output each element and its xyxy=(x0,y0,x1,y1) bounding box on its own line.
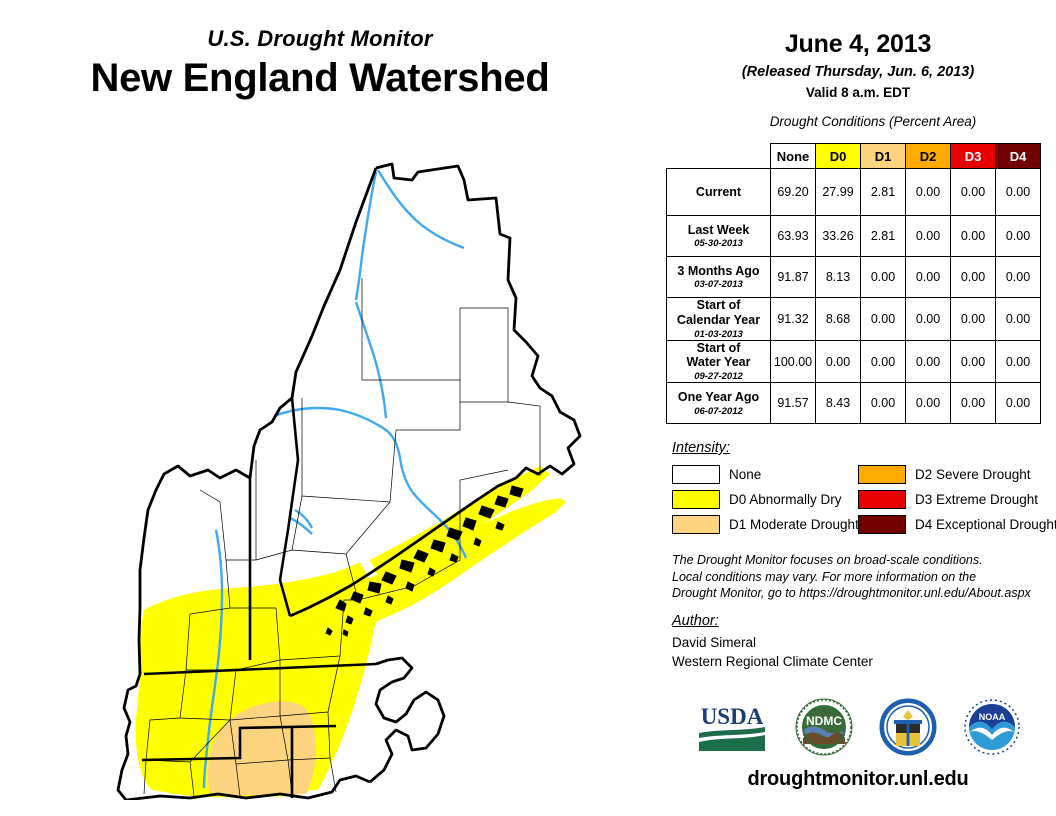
cell-d2: 0.00 xyxy=(906,216,951,257)
usda-logo-text: USDA xyxy=(701,704,764,729)
row-date: 01-03-2013 xyxy=(667,329,770,340)
legend-swatch-d1 xyxy=(672,515,720,534)
cell-d1: 0.00 xyxy=(861,340,906,383)
legend-item-d3: D3 Extreme Drought xyxy=(858,490,1056,509)
cell-d2: 0.00 xyxy=(906,169,951,216)
cell-d3: 0.00 xyxy=(951,340,996,383)
column-header-d1: D1 xyxy=(861,144,906,169)
info-panel: June 4, 2013 (Released Thursday, Jun. 6,… xyxy=(660,0,1056,816)
drought-conditions-table: None D0 D1 D2 D3 D4 Current69.2027.992.8… xyxy=(666,143,1046,424)
table-corner-cell xyxy=(667,144,771,169)
cell-none: 63.93 xyxy=(771,216,816,257)
row-label: Start ofWater Year09-27-2012 xyxy=(667,340,771,383)
legend-label-none: None xyxy=(729,467,761,482)
cell-d1: 2.81 xyxy=(861,169,906,216)
disclaimer-text: The Drought Monitor focuses on broad-sca… xyxy=(672,552,1052,602)
legend-item-d2: D2 Severe Drought xyxy=(858,465,1056,484)
author-block: Author: David Simeral Western Regional C… xyxy=(672,613,1052,671)
legend-item-d1: D1 Moderate Drought xyxy=(672,515,858,534)
cell-d2: 0.00 xyxy=(906,257,951,298)
ndmc-logo: NDMC xyxy=(795,698,853,756)
cell-d4: 0.00 xyxy=(996,169,1041,216)
cell-d1: 0.00 xyxy=(861,257,906,298)
row-label: Last Week05-30-2013 xyxy=(667,216,771,257)
legend-label-d4: D4 Exceptional Drought xyxy=(915,517,1056,532)
row-label: Start ofCalendar Year01-03-2013 xyxy=(667,298,771,341)
cell-d2: 0.00 xyxy=(906,383,951,424)
table-row: Last Week05-30-201363.9333.262.810.000.0… xyxy=(667,216,1041,257)
cell-d0: 8.13 xyxy=(816,257,861,298)
cell-d4: 0.00 xyxy=(996,298,1041,341)
page-title: New England Watershed xyxy=(0,56,640,101)
column-header-none: None xyxy=(771,144,816,169)
program-title: U.S. Drought Monitor xyxy=(0,26,640,52)
intensity-legend: Intensity: NoneD2 Severe DroughtD0 Abnor… xyxy=(672,440,1056,537)
title-block: U.S. Drought Monitor New England Watersh… xyxy=(0,26,640,101)
cell-d0: 8.43 xyxy=(816,383,861,424)
legend-swatch-d0 xyxy=(672,490,720,509)
author-affiliation: Western Regional Climate Center xyxy=(672,652,1052,671)
disclaimer-line-1: The Drought Monitor focuses on broad-sca… xyxy=(672,552,1052,569)
usda-logo: USDA xyxy=(695,699,769,755)
cell-d0: 8.68 xyxy=(816,298,861,341)
table-row: 3 Months Ago03-07-201391.878.130.000.000… xyxy=(667,257,1041,298)
cell-d4: 0.00 xyxy=(996,383,1041,424)
column-header-d3: D3 xyxy=(951,144,996,169)
legend-item-d0: D0 Abnormally Dry xyxy=(672,490,858,509)
cell-none: 91.32 xyxy=(771,298,816,341)
row-date: 06-07-2012 xyxy=(667,406,770,417)
column-header-d2: D2 xyxy=(906,144,951,169)
legend-swatch-d4 xyxy=(858,515,906,534)
row-date: 05-30-2013 xyxy=(667,238,770,249)
cell-d3: 0.00 xyxy=(951,383,996,424)
cell-d4: 0.00 xyxy=(996,257,1041,298)
cell-none: 91.57 xyxy=(771,383,816,424)
valid-time: Valid 8 a.m. EDT xyxy=(660,85,1056,100)
table-row: Current69.2027.992.810.000.000.00 xyxy=(667,169,1041,216)
cell-d4: 0.00 xyxy=(996,216,1041,257)
map-svg xyxy=(40,130,640,800)
table-header-row: None D0 D1 D2 D3 D4 xyxy=(667,144,1041,169)
cell-d2: 0.00 xyxy=(906,298,951,341)
author-name: David Simeral xyxy=(672,633,1052,652)
commerce-logo xyxy=(879,698,937,756)
cell-d0: 33.26 xyxy=(816,216,861,257)
row-date: 09-27-2012 xyxy=(667,371,770,382)
legend-label-d0: D0 Abnormally Dry xyxy=(729,492,842,507)
cell-none: 91.87 xyxy=(771,257,816,298)
cell-none: 69.20 xyxy=(771,169,816,216)
row-date: 03-07-2013 xyxy=(667,279,770,290)
noaa-logo: NOAA xyxy=(963,698,1021,756)
cell-d3: 0.00 xyxy=(951,169,996,216)
table-body: Current69.2027.992.810.000.000.00Last We… xyxy=(667,169,1041,424)
row-label: 3 Months Ago03-07-2013 xyxy=(667,257,771,298)
column-header-d4: D4 xyxy=(996,144,1041,169)
row-label: One Year Ago06-07-2012 xyxy=(667,383,771,424)
table-row: Start ofWater Year09-27-2012100.000.000.… xyxy=(667,340,1041,383)
cell-d4: 0.00 xyxy=(996,340,1041,383)
legend-item-none: None xyxy=(672,465,858,484)
legend-label-d2: D2 Severe Drought xyxy=(915,467,1031,482)
legend-item-d4: D4 Exceptional Drought xyxy=(858,515,1056,534)
ndmc-logo-text: NDMC xyxy=(806,714,842,728)
map-panel: U.S. Drought Monitor New England Watersh… xyxy=(0,0,660,816)
column-header-d0: D0 xyxy=(816,144,861,169)
author-label: Author: xyxy=(672,613,1052,629)
legend-swatch-d3 xyxy=(858,490,906,509)
report-date: June 4, 2013 xyxy=(660,30,1056,59)
cell-d0: 27.99 xyxy=(816,169,861,216)
cell-d1: 0.00 xyxy=(861,298,906,341)
intensity-legend-grid: NoneD2 Severe DroughtD0 Abnormally DryD3… xyxy=(672,462,1056,537)
cell-d3: 0.00 xyxy=(951,298,996,341)
legend-swatch-d2 xyxy=(858,465,906,484)
cell-d2: 0.00 xyxy=(906,340,951,383)
table-row: Start ofCalendar Year01-03-201391.328.68… xyxy=(667,298,1041,341)
legend-swatch-none xyxy=(672,465,720,484)
legend-label-d3: D3 Extreme Drought xyxy=(915,492,1038,507)
table-row: One Year Ago06-07-201291.578.430.000.000… xyxy=(667,383,1041,424)
date-block: June 4, 2013 (Released Thursday, Jun. 6,… xyxy=(660,0,1056,129)
site-url[interactable]: droughtmonitor.unl.edu xyxy=(660,768,1056,791)
cell-d3: 0.00 xyxy=(951,257,996,298)
row-label: Current xyxy=(667,169,771,216)
logo-row: USDA NDMC xyxy=(660,688,1056,766)
legend-label-d1: D1 Moderate Drought xyxy=(729,517,859,532)
cell-d0: 0.00 xyxy=(816,340,861,383)
table-caption: Drought Conditions (Percent Area) xyxy=(690,114,1056,129)
release-date: (Released Thursday, Jun. 6, 2013) xyxy=(660,64,1056,80)
cell-d1: 2.81 xyxy=(861,216,906,257)
cell-d1: 0.00 xyxy=(861,383,906,424)
cell-d3: 0.00 xyxy=(951,216,996,257)
cell-none: 100.00 xyxy=(771,340,816,383)
disclaimer-line-2: Local conditions may vary. For more info… xyxy=(672,569,1052,586)
disclaimer-line-3: Drought Monitor, go to https://droughtmo… xyxy=(672,585,1052,602)
intensity-legend-title: Intensity: xyxy=(672,440,1056,456)
map-layer-d0 xyxy=(136,466,566,798)
drought-map[interactable] xyxy=(40,130,640,800)
noaa-logo-text: NOAA xyxy=(979,712,1006,722)
